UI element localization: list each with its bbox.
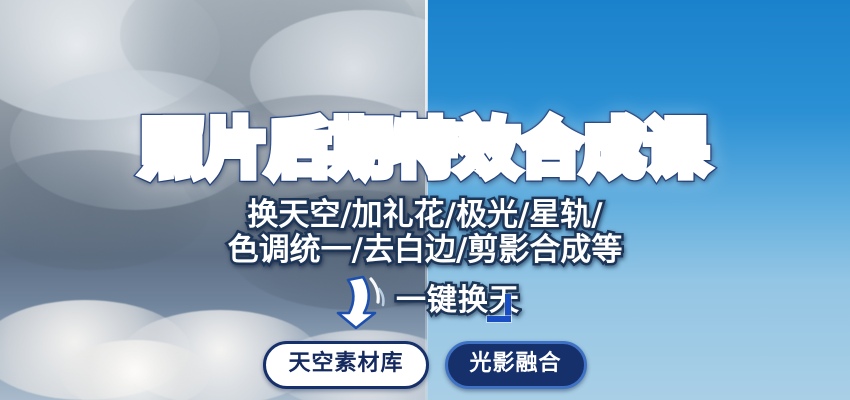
feature-highlight-row: 一键换天 <box>0 272 850 330</box>
sky-replacement-course-banner: 照片后期特效合成课 照片后期特效合成课 换天空/加礼花/极光/星轨/ 色调统一/… <box>0 0 850 400</box>
curved-down-arrow-icon <box>330 272 390 330</box>
corner-bracket-icon <box>487 294 513 324</box>
subtitle-line-1: 换天空/加礼花/极光/星轨/ <box>0 198 850 233</box>
page-title: 照片后期特效合成课 <box>0 118 850 180</box>
badge-group: 天空素材库 光影融合 <box>0 341 850 389</box>
badge-light-blend[interactable]: 光影融合 <box>445 341 587 389</box>
subtitle-line-2: 色调统一/去白边/剪影合成等 <box>0 233 850 268</box>
banner-content: 照片后期特效合成课 照片后期特效合成课 换天空/加礼花/极光/星轨/ 色调统一/… <box>0 0 850 400</box>
badge-sky-library[interactable]: 天空素材库 <box>263 341 428 389</box>
